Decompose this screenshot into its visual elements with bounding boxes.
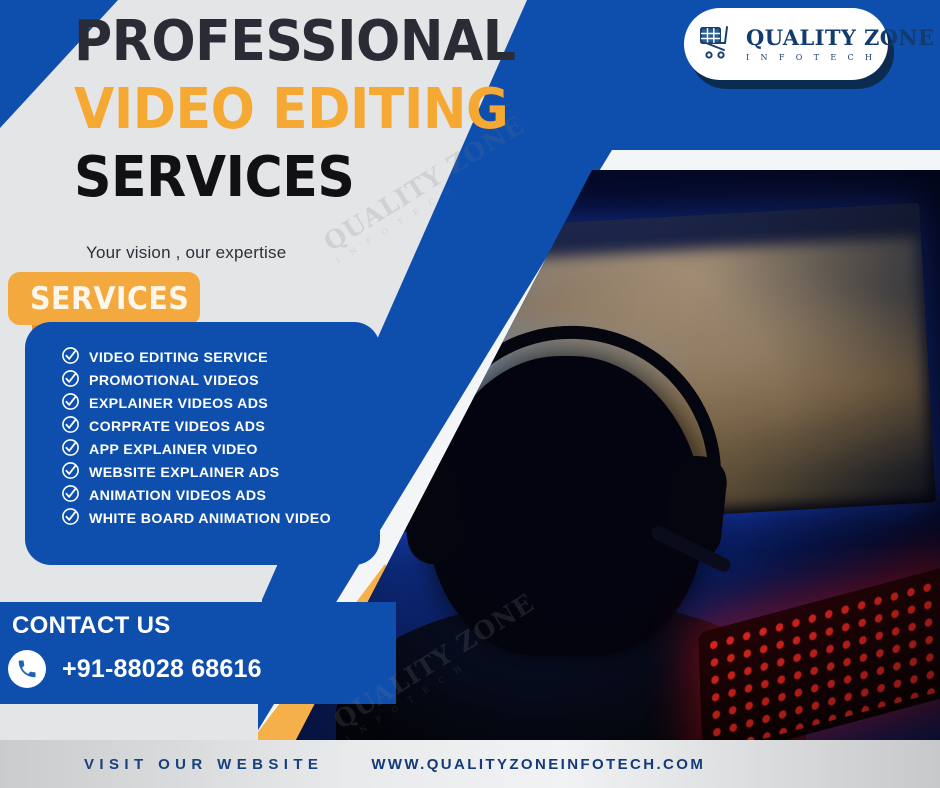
service-item-label: PROMOTIONAL VIDEOS	[89, 373, 259, 389]
service-item-label: CORPRATE VIDEOS ADS	[89, 419, 265, 435]
logo-title: QUALITY ZONE	[746, 25, 934, 50]
services-badge-label: SERVICES	[30, 281, 189, 317]
shopping-cart-icon	[698, 24, 740, 65]
check-circle-icon	[61, 415, 80, 439]
headline-line-2: VIDEO EDITING	[74, 82, 511, 138]
footer-visit-label: VISIT OUR WEBSITE	[84, 756, 323, 773]
logo-subtitle: I N F O T E C H	[746, 54, 934, 62]
headline-line-1: PROFESSIONAL	[74, 14, 511, 70]
service-item: PROMOTIONAL VIDEOS	[61, 369, 331, 392]
service-item: WHITE BOARD ANIMATION VIDEO	[61, 507, 331, 530]
services-card: VIDEO EDITING SERVICEPROMOTIONAL VIDEOSE…	[25, 322, 380, 565]
service-item: ANIMATION VIDEOS ADS	[61, 484, 331, 507]
phone-row[interactable]: +91-88028 68616	[8, 650, 262, 688]
poster-canvas: QUALITY ZONE I N F O T E C H PROFESSIONA…	[0, 0, 940, 788]
service-item: VIDEO EDITING SERVICE	[61, 346, 331, 369]
check-circle-icon	[61, 461, 80, 485]
check-circle-icon	[61, 346, 80, 370]
services-list: VIDEO EDITING SERVICEPROMOTIONAL VIDEOSE…	[61, 346, 331, 530]
phone-number: +91-88028 68616	[62, 655, 262, 684]
services-badge: SERVICES	[8, 272, 200, 325]
service-item-label: WHITE BOARD ANIMATION VIDEO	[89, 511, 331, 527]
service-item-label: VIDEO EDITING SERVICE	[89, 350, 268, 366]
service-item-label: ANIMATION VIDEOS ADS	[89, 488, 266, 504]
contact-title: CONTACT US	[12, 612, 171, 640]
service-item: APP EXPLAINER VIDEO	[61, 438, 331, 461]
phone-icon	[8, 650, 46, 688]
service-item-label: APP EXPLAINER VIDEO	[89, 442, 258, 458]
service-item-label: WEBSITE EXPLAINER ADS	[89, 465, 280, 481]
footer-website-url[interactable]: WWW.QUALITYZONEINFOTECH.COM	[371, 756, 705, 773]
tagline: Your vision , our expertise	[86, 243, 286, 263]
headline-line-3: SERVICES	[74, 150, 511, 206]
brand-logo[interactable]: QUALITY ZONE I N F O T E C H	[684, 8, 894, 86]
check-circle-icon	[61, 438, 80, 462]
service-item-label: EXPLAINER VIDEOS ADS	[89, 396, 268, 412]
check-circle-icon	[61, 392, 80, 416]
headline-block: PROFESSIONAL VIDEO EDITING SERVICES	[74, 14, 544, 206]
service-item: WEBSITE EXPLAINER ADS	[61, 461, 331, 484]
service-item: CORPRATE VIDEOS ADS	[61, 415, 331, 438]
footer-bar: VISIT OUR WEBSITE WWW.QUALITYZONEINFOTEC…	[0, 740, 940, 788]
contact-bar: CONTACT US +91-88028 68616	[0, 602, 396, 704]
check-circle-icon	[61, 507, 80, 531]
service-item: EXPLAINER VIDEOS ADS	[61, 392, 331, 415]
check-circle-icon	[61, 484, 80, 508]
check-circle-icon	[61, 369, 80, 393]
